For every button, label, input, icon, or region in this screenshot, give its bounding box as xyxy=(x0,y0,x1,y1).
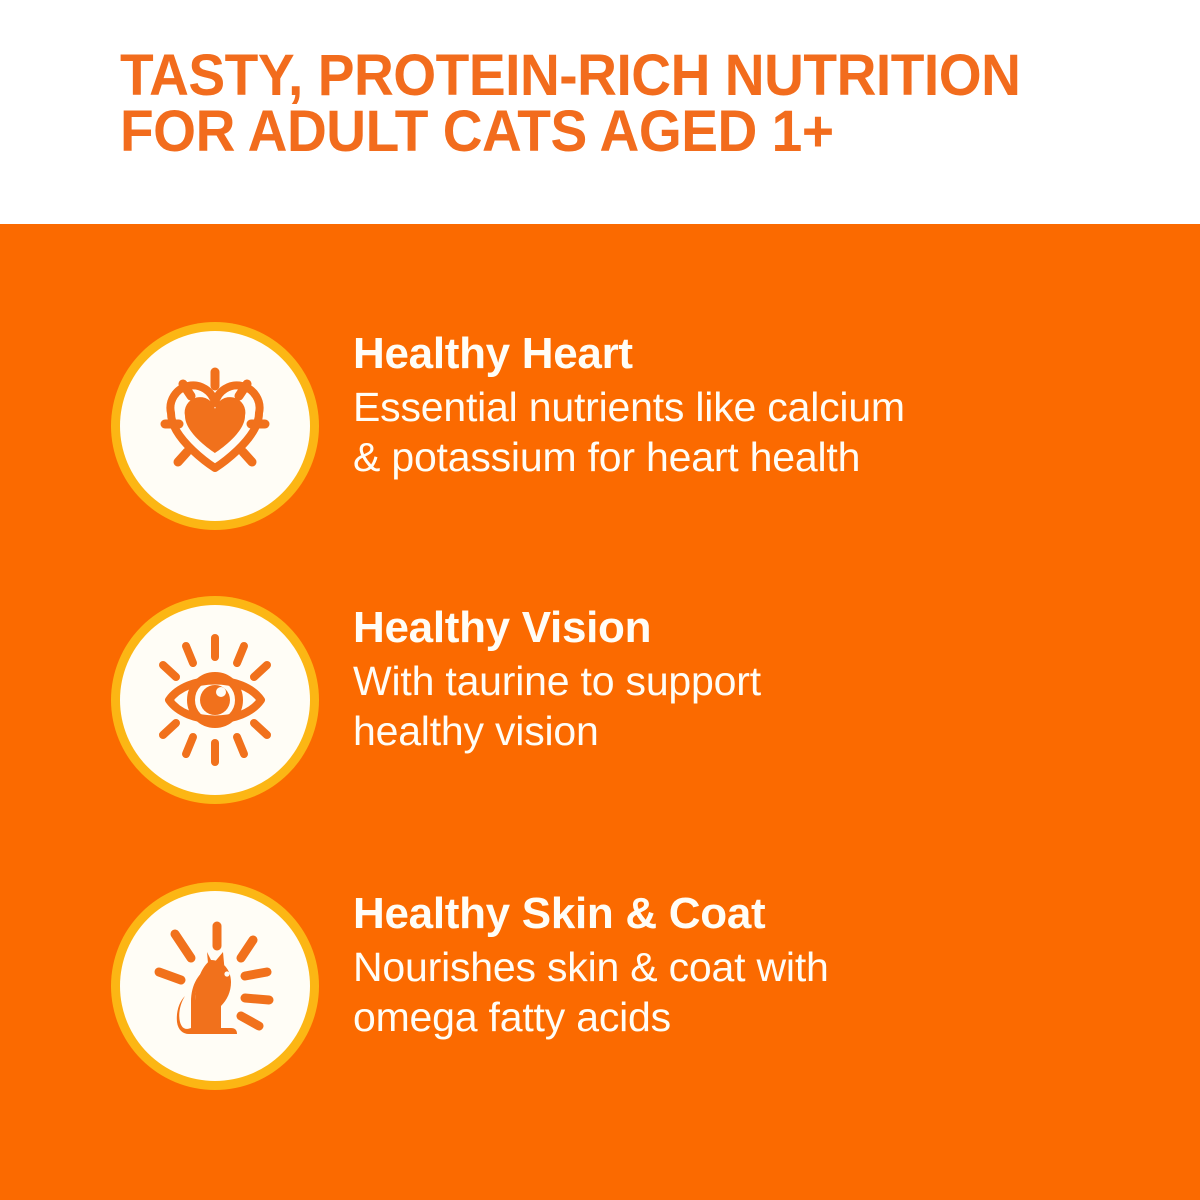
feature-body: Nourishes skin & coat with omega fatty a… xyxy=(353,942,1153,1042)
icon-badge-healthy-skin-coat xyxy=(111,882,319,1090)
feature-heading: Healthy Skin & Coat xyxy=(353,888,1153,940)
feature-text-healthy-heart: Healthy Heart Essential nutrients like c… xyxy=(353,328,1153,482)
cat-food-benefits-infographic: Tasty, Protein-Rich Nutrition for Adult … xyxy=(0,0,1200,1200)
feature-body: With taurine to support healthy vision xyxy=(353,656,1153,756)
badge-inner xyxy=(120,891,310,1081)
feature-text-healthy-vision: Healthy Vision With taurine to support h… xyxy=(353,602,1153,756)
benefits-panel: Healthy Heart Essential nutrients like c… xyxy=(0,224,1200,1200)
icon-badge-healthy-vision xyxy=(111,596,319,804)
badge-inner xyxy=(120,605,310,795)
feature-heading: Healthy Vision xyxy=(353,602,1153,654)
feature-text-healthy-skin-coat: Healthy Skin & Coat Nourishes skin & coa… xyxy=(353,888,1153,1042)
radiant-cat-icon xyxy=(145,916,285,1056)
feature-body: Essential nutrients like calcium & potas… xyxy=(353,382,1153,482)
radiant-heart-icon xyxy=(145,356,285,496)
icon-badge-healthy-heart xyxy=(111,322,319,530)
header-band: Tasty, Protein-Rich Nutrition for Adult … xyxy=(0,0,1200,224)
page-title: Tasty, Protein-Rich Nutrition for Adult … xyxy=(120,48,1080,160)
radiant-eye-icon xyxy=(145,630,285,770)
feature-heading: Healthy Heart xyxy=(353,328,1153,380)
badge-inner xyxy=(120,331,310,521)
